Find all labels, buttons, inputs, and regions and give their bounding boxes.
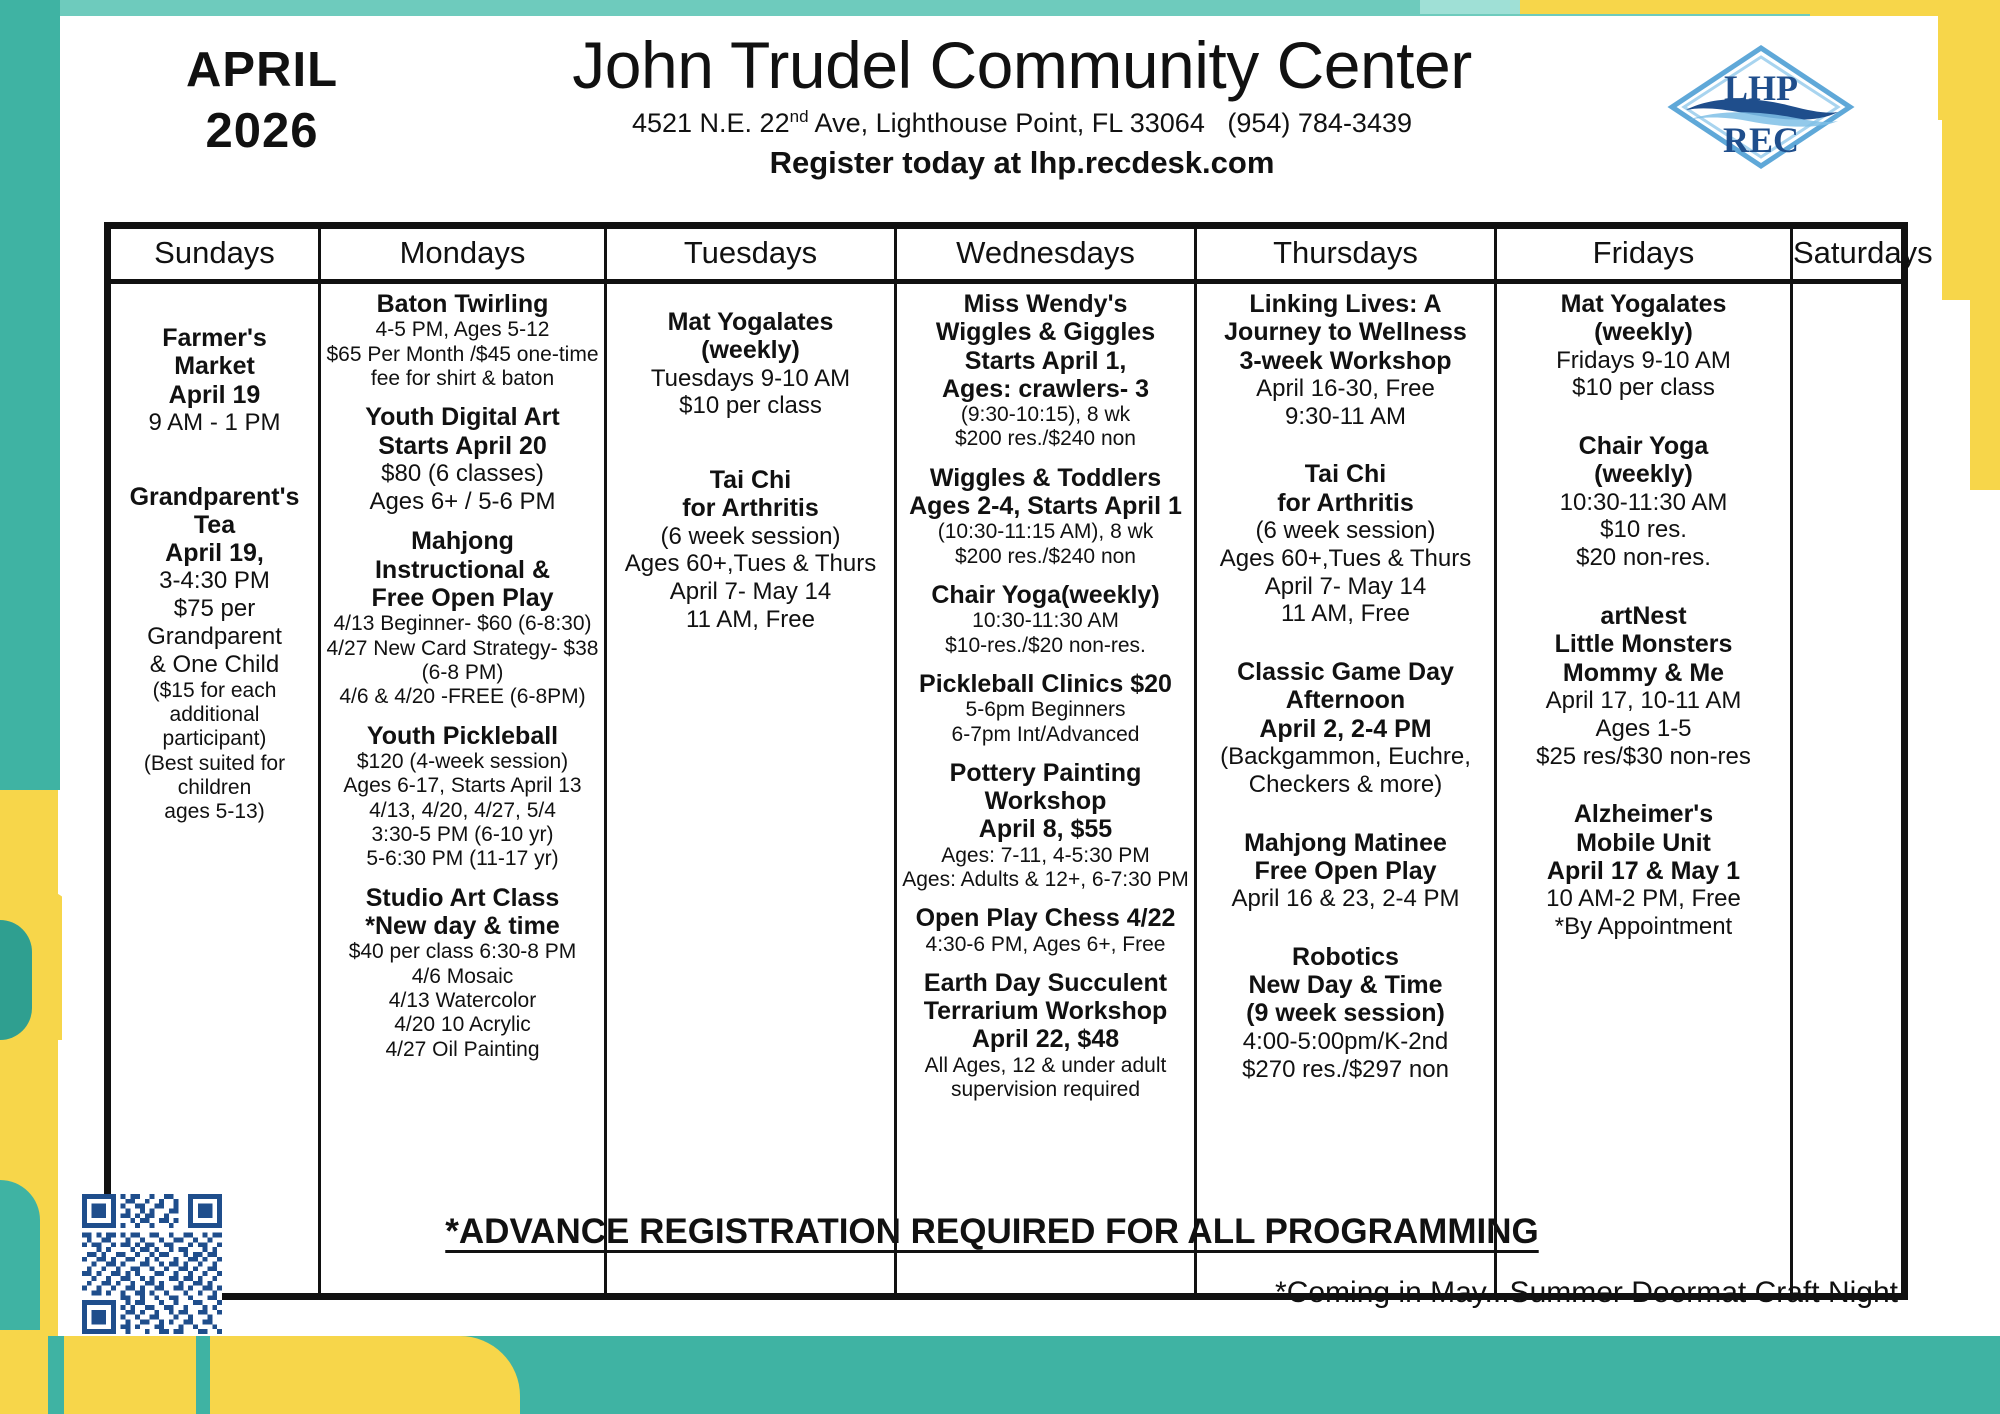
event-block: Chair Yoga(weekly)10:30-11:30 AM$10-res.… (901, 581, 1190, 658)
decor-bottom-teal-strip (48, 1336, 64, 1414)
event-detail-line: Ages 6-17, Starts April 13 (325, 774, 600, 798)
event-block: Mat Yogalates(weekly)Tuesdays 9-10 AM$10… (611, 308, 890, 420)
event-block: Studio Art Class*New day & time$40 per c… (325, 884, 600, 1062)
event-detail-line: 4:30-6 PM, Ages 6+, Free (901, 933, 1190, 957)
event-detail-line: 4/27 New Card Strategy- $38 (325, 637, 600, 661)
event-block: Classic Game DayAfternoonApril 2, 2-4 PM… (1201, 658, 1490, 798)
decor-bottom-yellow (0, 1336, 520, 1414)
event-title: Chair Yoga(weekly) (901, 581, 1190, 609)
event-block: Open Play Chess 4/224:30-6 PM, Ages 6+, … (901, 904, 1190, 957)
event-spacer (1501, 782, 1786, 800)
event-detail-line: fee for shirt & baton (325, 367, 600, 391)
event-detail-line: Instructional & (325, 556, 600, 584)
event-title: Mat Yogalates (611, 308, 890, 336)
event-detail-line: (6-8 PM) (325, 661, 600, 685)
event-detail-line: Tea (115, 511, 314, 539)
event-detail-line: Starts April 1, (901, 347, 1190, 375)
decor-right-teal-blob (1960, 30, 2000, 260)
event-title: Mahjong (325, 527, 600, 555)
event-detail-line: April 16 & 23, 2-4 PM (1201, 885, 1490, 913)
event-detail-line: $120 (4-week session) (325, 750, 600, 774)
event-detail-line: Ages 60+,Tues & Thurs (1201, 545, 1490, 573)
event-detail-line: Ages 60+,Tues & Thurs (611, 550, 890, 578)
lhp-rec-logo: LHP REC (1666, 42, 1856, 172)
event-spacer (1201, 442, 1490, 460)
event-block: Chair Yoga(weekly)10:30-11:30 AM$10 res.… (1501, 432, 1786, 572)
event-detail-line: Ages: crawlers- 3 (901, 375, 1190, 403)
decor-left-teal (0, 0, 60, 790)
event-detail-line: April 7- May 14 (611, 578, 890, 606)
event-detail-line: (weekly) (611, 336, 890, 364)
event-title: Linking Lives: A (1201, 290, 1490, 318)
calendar-header-row: Sundays Mondays Tuesdays Wednesdays Thur… (111, 229, 1901, 284)
event-title: Pottery Painting (901, 759, 1190, 787)
address-street-post: Ave, Lighthouse Point, FL 33064 (809, 108, 1205, 138)
event-title: Mat Yogalates (1501, 290, 1786, 318)
event-spacer (1201, 811, 1490, 829)
event-detail-line: $75 per (115, 595, 314, 623)
column-header-sundays: Sundays (111, 229, 321, 279)
event-detail-line: $20 non-res. (1501, 544, 1786, 572)
event-detail-line: 10:30-11:30 AM (901, 609, 1190, 633)
title-block: John Trudel Community Center 4521 N.E. 2… (392, 30, 1652, 181)
event-block: RoboticsNew Day & Time(9 week session)4:… (1201, 943, 1490, 1083)
calendar-body-row: Farmer'sMarketApril 199 AM - 1 PMGrandpa… (111, 284, 1901, 1293)
event-detail-line: 3-week Workshop (1201, 347, 1490, 375)
svg-text:REC: REC (1723, 120, 1799, 160)
event-block: Alzheimer'sMobile UnitApril 17 & May 110… (1501, 800, 1786, 940)
event-detail-line: Ages 1-5 (1501, 715, 1786, 743)
event-title: artNest (1501, 602, 1786, 630)
event-block: Linking Lives: AJourney to Wellness3-wee… (1201, 290, 1490, 430)
event-detail-line: All Ages, 12 & under adult (901, 1054, 1190, 1078)
event-detail-line: supervision required (901, 1078, 1190, 1102)
event-detail-line: 9:30-11 AM (1201, 403, 1490, 431)
event-detail-line: (Best suited for (115, 752, 314, 776)
day-column-tuesdays: Mat Yogalates(weekly)Tuesdays 9-10 AM$10… (607, 284, 897, 1293)
event-detail-line: 4/13 Watercolor (325, 989, 600, 1013)
day-column-saturdays (1793, 284, 1901, 1293)
event-title: Grandparent's (115, 483, 314, 511)
event-block: Grandparent'sTeaApril 19,3-4:30 PM$75 pe… (115, 483, 314, 825)
event-detail-line: 3:30-5 PM (6-10 yr) (325, 823, 600, 847)
event-detail-line: Little Monsters (1501, 630, 1786, 658)
event-detail-line: Ages: Adults & 12+, 6-7:30 PM (901, 868, 1190, 892)
event-detail-line: Checkers & more) (1201, 771, 1490, 799)
event-title: Robotics (1201, 943, 1490, 971)
event-title: Tai Chi (1201, 460, 1490, 488)
event-detail-line: (9:30-10:15), 8 wk (901, 403, 1190, 427)
event-detail-line: New Day & Time (1201, 971, 1490, 999)
decor-bottom-teal (0, 1336, 2000, 1414)
event-block: Mahjong MatineeFree Open PlayApril 16 & … (1201, 829, 1490, 913)
event-detail-line: Free Open Play (1201, 857, 1490, 885)
event-block: Tai Chifor Arthritis(6 week session)Ages… (1201, 460, 1490, 628)
month-label: APRIL (132, 40, 392, 101)
event-title: Studio Art Class (325, 884, 600, 912)
event-detail-line: 11 AM, Free (611, 606, 890, 634)
event-detail-line: Wiggles & Giggles (901, 318, 1190, 346)
event-detail-line: Ages 2-4, Starts April 1 (901, 492, 1190, 520)
day-column-mondays: Baton Twirling4-5 PM, Ages 5-12$65 Per M… (321, 284, 607, 1293)
event-detail-line: 4/6 Mosaic (325, 965, 600, 989)
event-detail-line: 4/20 10 Acrylic (325, 1013, 600, 1037)
column-header-saturdays: Saturdays (1793, 229, 1933, 279)
decor-bottom-yellow-2 (150, 1350, 480, 1414)
event-detail-line: Workshop (901, 787, 1190, 815)
event-block: MahjongInstructional &Free Open Play4/13… (325, 527, 600, 709)
event-detail-line: April 22, $48 (901, 1025, 1190, 1053)
event-detail-line: 4/13 Beginner- $60 (6-8:30) (325, 612, 600, 636)
event-detail-line: 3-4:30 PM (115, 567, 314, 595)
event-detail-line: (6 week session) (611, 523, 890, 551)
event-block: Baton Twirling4-5 PM, Ages 5-12$65 Per M… (325, 290, 600, 391)
event-detail-line: $10-res./$20 non-res. (901, 634, 1190, 658)
decor-top-yellow-bar (1520, 0, 2000, 14)
event-block: Mat Yogalates(weekly)Fridays 9-10 AM$10 … (1501, 290, 1786, 402)
event-detail-line: April 19 (115, 381, 314, 409)
event-block: Miss Wendy'sWiggles & GigglesStarts Apri… (901, 290, 1190, 452)
header: APRIL 2026 John Trudel Community Center … (62, 16, 1938, 214)
event-detail-line: (weekly) (1501, 460, 1786, 488)
event-detail-line: for Arthritis (611, 494, 890, 522)
event-detail-line: Mommy & Me (1501, 659, 1786, 687)
event-detail-line: April 17 & May 1 (1501, 857, 1786, 885)
event-detail-line: 6-7pm Int/Advanced (901, 723, 1190, 747)
event-detail-line: $40 per class 6:30-8 PM (325, 940, 600, 964)
event-detail-line: for Arthritis (1201, 489, 1490, 517)
page-title: John Trudel Community Center (392, 30, 1652, 101)
event-title: Pickleball Clinics $20 (901, 670, 1190, 698)
event-spacer (1201, 640, 1490, 658)
event-detail-line: Afternoon (1201, 686, 1490, 714)
event-detail-line: Free Open Play (325, 584, 600, 612)
register-line: Register today at lhp.recdesk.com (392, 145, 1652, 181)
event-detail-line: ($15 for each (115, 679, 314, 703)
event-detail-line: Ages: 7-11, 4-5:30 PM (901, 844, 1190, 868)
event-block: artNestLittle MonstersMommy & MeApril 17… (1501, 602, 1786, 770)
decor-left-teal-3 (0, 1180, 40, 1330)
event-detail-line: (9 week session) (1201, 999, 1490, 1027)
qr-code-icon[interactable] (82, 1194, 222, 1334)
event-title: Chair Yoga (1501, 432, 1786, 460)
event-detail-line: $10 res. (1501, 516, 1786, 544)
event-detail-line: Tuesdays 9-10 AM (611, 365, 890, 393)
decor-right-yellow-2 (1970, 250, 2000, 490)
event-detail-line: (6 week session) (1201, 517, 1490, 545)
event-detail-line: 5-6pm Beginners (901, 698, 1190, 722)
event-title: Youth Digital Art (325, 403, 600, 431)
advance-registration-note: *ADVANCE REGISTRATION REQUIRED FOR ALL P… (392, 1212, 1592, 1252)
event-detail-line: Grandparent (115, 623, 314, 651)
event-block: Youth Digital ArtStarts April 20$80 (6 c… (325, 403, 600, 515)
event-title: Miss Wendy's (901, 290, 1190, 318)
day-column-fridays: Mat Yogalates(weekly)Fridays 9-10 AM$10 … (1497, 284, 1793, 1293)
event-title: Wiggles & Toddlers (901, 464, 1190, 492)
event-detail-line: $200 res./$240 non (901, 545, 1190, 569)
calendar-flyer: APRIL 2026 John Trudel Community Center … (0, 0, 2000, 1414)
event-detail-line: April 8, $55 (901, 815, 1190, 843)
event-detail-line: 5-6:30 PM (11-17 yr) (325, 847, 600, 871)
event-detail-line: April 16-30, Free (1201, 375, 1490, 403)
event-title: Alzheimer's (1501, 800, 1786, 828)
event-block: Wiggles & ToddlersAges 2-4, Starts April… (901, 464, 1190, 569)
event-detail-line: April 2, 2-4 PM (1201, 715, 1490, 743)
event-detail-line: Starts April 20 (325, 432, 600, 460)
column-header-fridays: Fridays (1497, 229, 1793, 279)
month-year-block: APRIL 2026 (132, 40, 392, 163)
event-detail-line: $10 per class (611, 392, 890, 420)
event-spacer (115, 449, 314, 483)
event-detail-line: (weekly) (1501, 318, 1786, 346)
year-label: 2026 (132, 101, 392, 162)
decor-bottom-teal-strip-2 (196, 1336, 210, 1414)
event-spacer (611, 290, 890, 308)
decor-left-yellow (0, 790, 58, 1414)
address-ordinal-suffix: nd (790, 107, 809, 126)
event-title: Classic Game Day (1201, 658, 1490, 686)
event-title: Farmer's (115, 324, 314, 352)
event-spacer (1501, 584, 1786, 602)
event-detail-line: 4/13, 4/20, 4/27, 5/4 (325, 799, 600, 823)
event-detail-line: 11 AM, Free (1201, 600, 1490, 628)
event-detail-line: *New day & time (325, 912, 600, 940)
event-detail-line: 4/6 & 4/20 -FREE (6-8PM) (325, 685, 600, 709)
event-detail-line: Fridays 9-10 AM (1501, 347, 1786, 375)
calendar-table: Sundays Mondays Tuesdays Wednesdays Thur… (104, 222, 1908, 1300)
coming-soon-note: *Coming in May...Summer Doormat Craft Ni… (1275, 1276, 1898, 1310)
event-block: Pickleball Clinics $205-6pm Beginners6-7… (901, 670, 1190, 747)
event-detail-line: $25 res/$30 non-res (1501, 743, 1786, 771)
event-title: Mahjong Matinee (1201, 829, 1490, 857)
event-detail-line: 10:30-11:30 AM (1501, 489, 1786, 517)
event-detail-line: Market (115, 352, 314, 380)
event-detail-line: $270 res./$297 non (1201, 1056, 1490, 1084)
event-title: Youth Pickleball (325, 722, 600, 750)
event-title: Open Play Chess 4/22 (901, 904, 1190, 932)
event-detail-line: $200 res./$240 non (901, 427, 1190, 451)
event-detail-line: Journey to Wellness (1201, 318, 1490, 346)
event-block: Farmer'sMarketApril 199 AM - 1 PM (115, 324, 314, 437)
event-detail-line: 4:00-5:00pm/K-2nd (1201, 1028, 1490, 1056)
event-block: Earth Day SucculentTerrarium WorkshopApr… (901, 969, 1190, 1102)
event-spacer (1501, 414, 1786, 432)
event-block: Tai Chifor Arthritis(6 week session)Ages… (611, 466, 890, 634)
phone-number: (954) 784-3439 (1227, 108, 1412, 138)
event-block: Youth Pickleball$120 (4-week session)Age… (325, 722, 600, 872)
event-detail-line: 10 AM-2 PM, Free (1501, 885, 1786, 913)
column-header-mondays: Mondays (321, 229, 607, 279)
day-column-wednesdays: Miss Wendy'sWiggles & GigglesStarts Apri… (897, 284, 1197, 1293)
event-detail-line: Terrarium Workshop (901, 997, 1190, 1025)
event-title: Earth Day Succulent (901, 969, 1190, 997)
event-detail-line: (Backgammon, Euchre, (1201, 743, 1490, 771)
event-block: Pottery PaintingWorkshopApril 8, $55Ages… (901, 759, 1190, 892)
column-header-wednesdays: Wednesdays (897, 229, 1197, 279)
event-detail-line: $65 Per Month /$45 one-time (325, 343, 600, 367)
event-detail-line: April 17, 10-11 AM (1501, 687, 1786, 715)
event-spacer (1201, 925, 1490, 943)
event-detail-line: $10 per class (1501, 374, 1786, 402)
decor-left-teal-2 (0, 920, 32, 1040)
event-detail-line: participant) (115, 727, 314, 751)
event-detail-line: Ages 6+ / 5-6 PM (325, 488, 600, 516)
column-header-thursdays: Thursdays (1197, 229, 1497, 279)
decor-top-teal-bar (0, 0, 2000, 16)
event-detail-line: additional (115, 703, 314, 727)
event-detail-line: 4-5 PM, Ages 5-12 (325, 318, 600, 342)
event-detail-line: 9 AM - 1 PM (115, 409, 314, 437)
page-sheet: APRIL 2026 John Trudel Community Center … (62, 16, 1938, 1336)
event-detail-line: children (115, 776, 314, 800)
event-detail-line: & One Child (115, 651, 314, 679)
event-detail-line: $80 (6 classes) (325, 460, 600, 488)
day-column-thursdays: Linking Lives: AJourney to Wellness3-wee… (1197, 284, 1497, 1293)
event-detail-line: (10:30-11:15 AM), 8 wk (901, 520, 1190, 544)
event-title: Tai Chi (611, 466, 890, 494)
event-detail-line: ages 5-13) (115, 800, 314, 824)
event-detail-line: April 7- May 14 (1201, 573, 1490, 601)
day-column-sundays: Farmer'sMarketApril 199 AM - 1 PMGrandpa… (111, 284, 321, 1293)
footer: *ADVANCE REGISTRATION REQUIRED FOR ALL P… (62, 1184, 1938, 1336)
event-detail-line: April 19, (115, 539, 314, 567)
address-street-pre: 4521 N.E. 22 (632, 108, 790, 138)
event-spacer (115, 290, 314, 324)
address-line: 4521 N.E. 22nd Ave, Lighthouse Point, FL… (392, 107, 1652, 139)
event-detail-line: *By Appointment (1501, 913, 1786, 941)
decor-right-yellow (1942, 0, 2000, 300)
event-spacer (611, 432, 890, 466)
event-detail-line: 4/27 Oil Painting (325, 1038, 600, 1062)
event-title: Baton Twirling (325, 290, 600, 318)
decor-top-teal-light (1420, 0, 1670, 14)
event-detail-line: Mobile Unit (1501, 829, 1786, 857)
column-header-tuesdays: Tuesdays (607, 229, 897, 279)
